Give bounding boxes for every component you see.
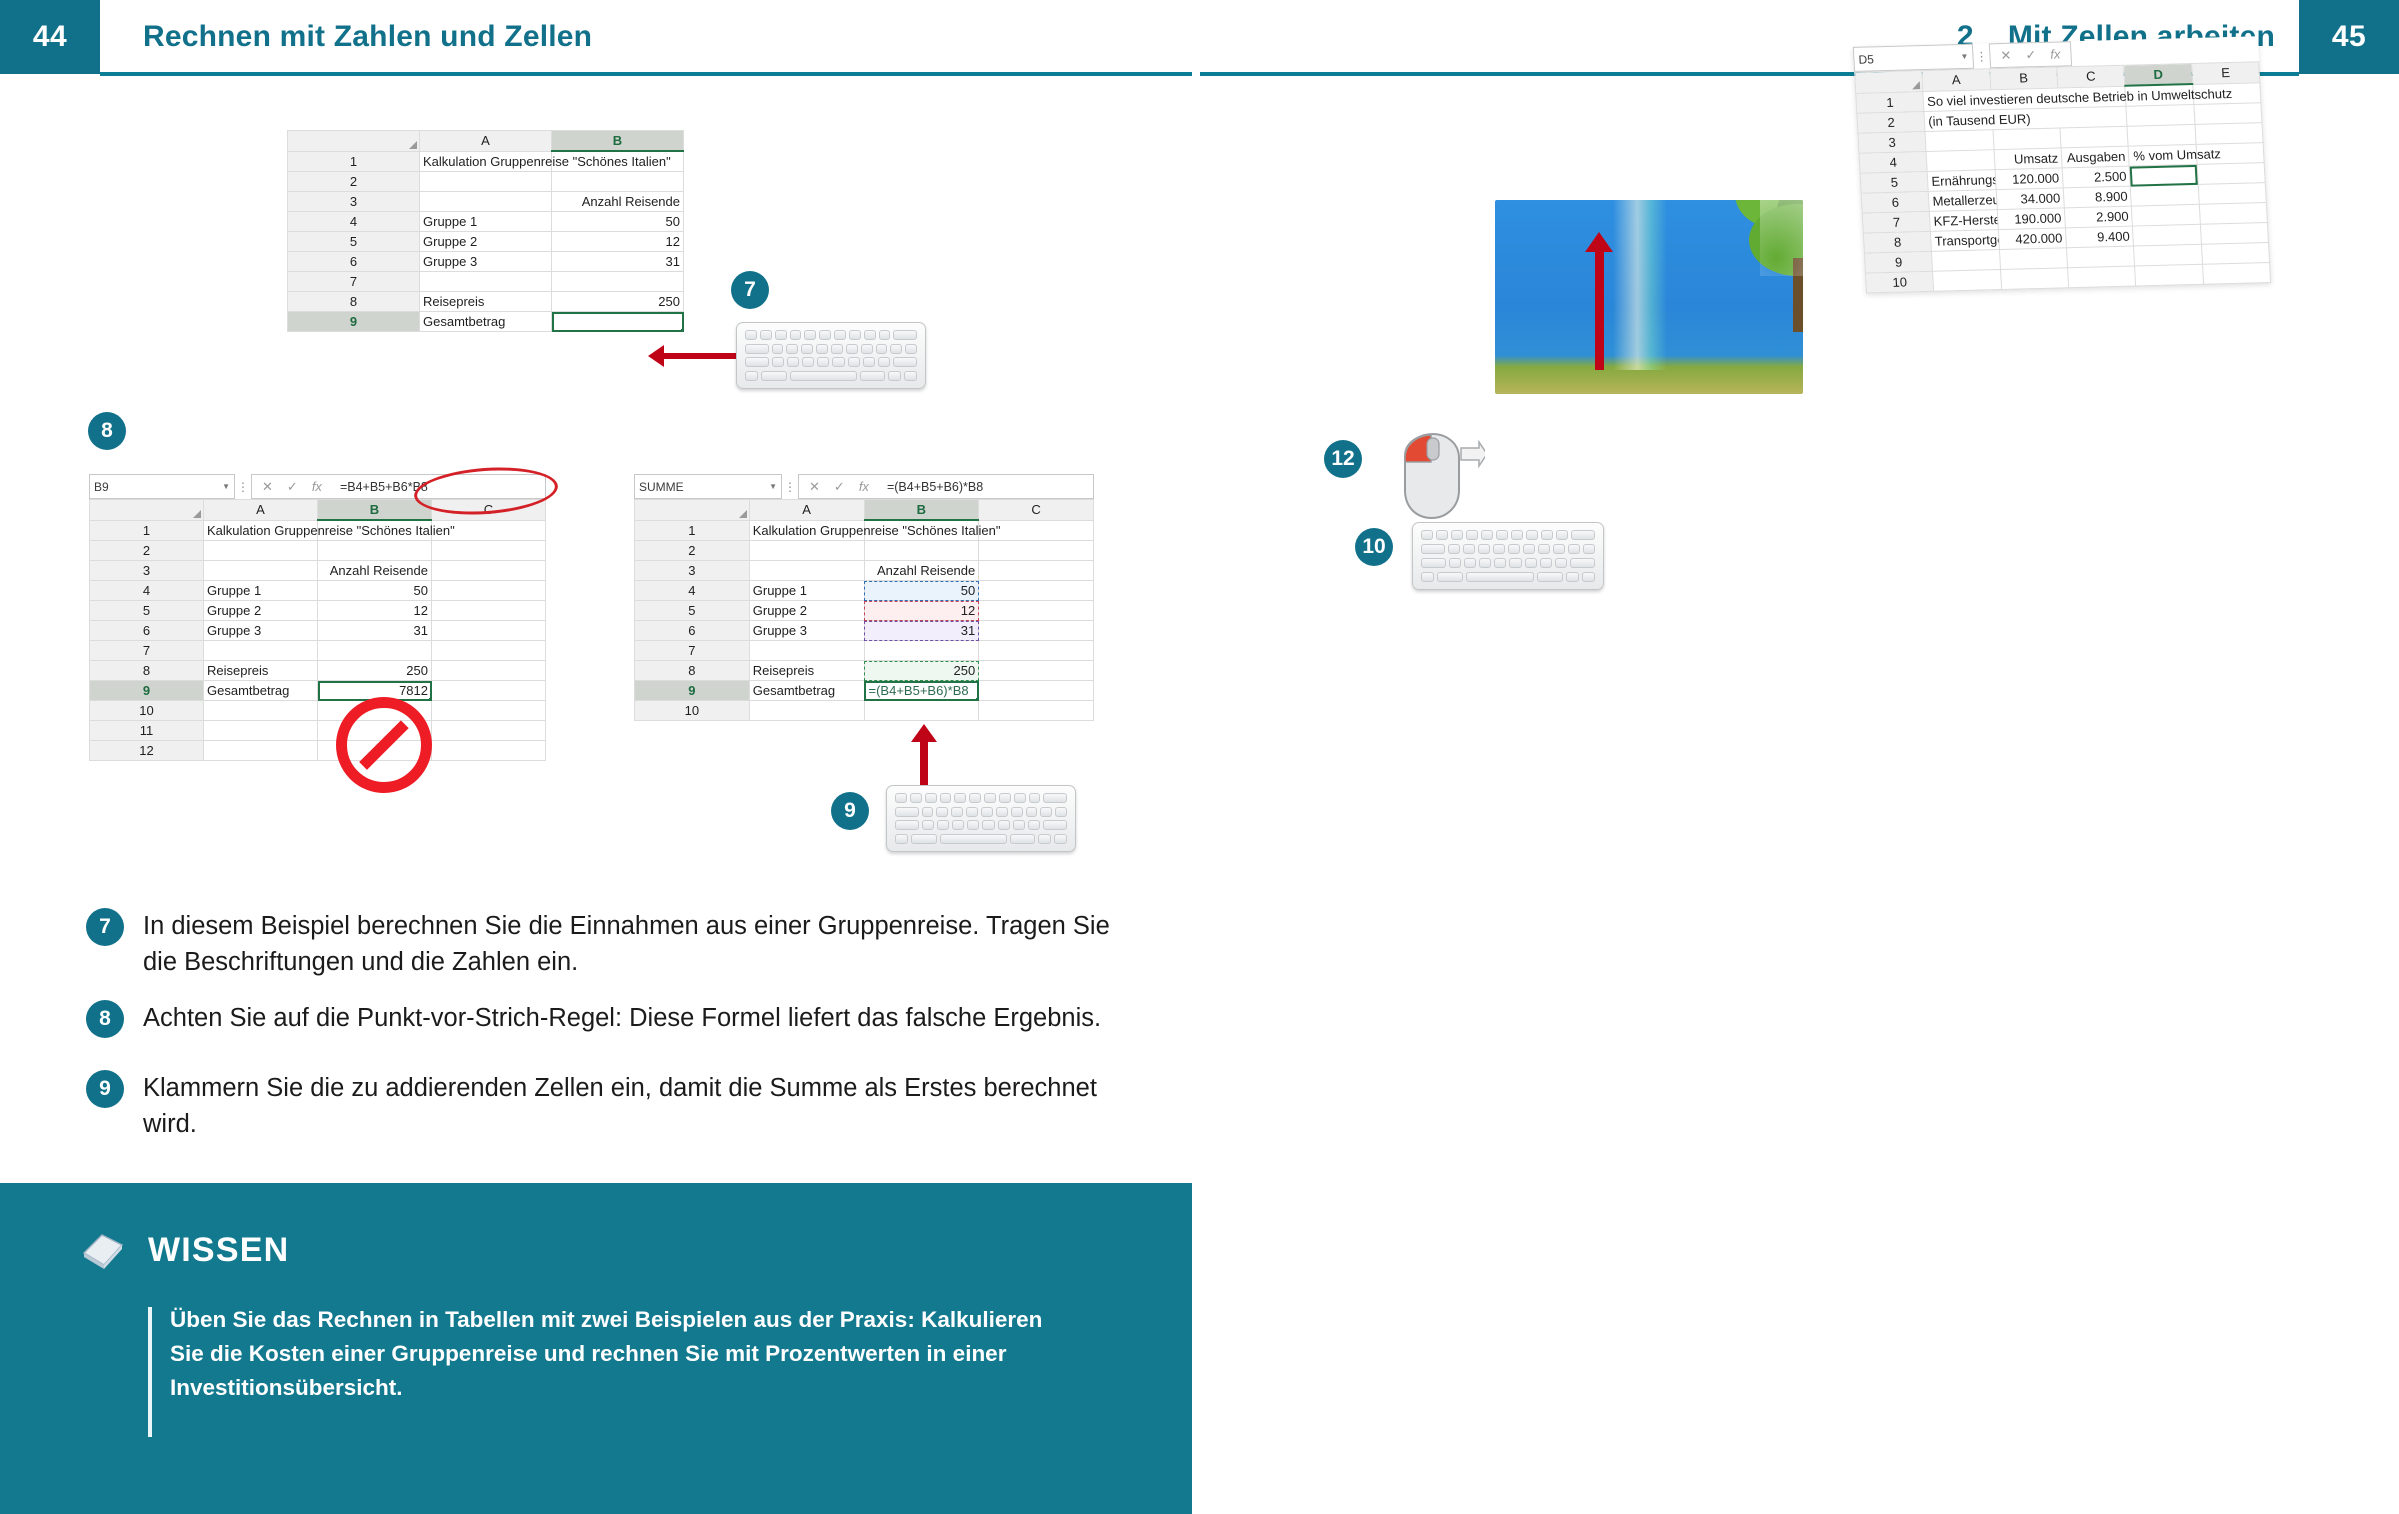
cell-c3[interactable] <box>432 561 546 581</box>
cell-a2[interactable] <box>420 172 552 192</box>
row-header-12[interactable]: 12 <box>90 741 204 761</box>
row-header-1[interactable]: 1 <box>288 151 420 172</box>
row-header-7[interactable]: 7 <box>288 272 420 292</box>
cell-a11[interactable] <box>204 721 318 741</box>
wissen-text: Üben Sie das Rechnen in Tabellen mit zwe… <box>170 1303 1070 1406</box>
column-header-b[interactable]: B <box>864 500 979 521</box>
row-header-8[interactable]: 8 <box>1863 231 1931 253</box>
cell-a8[interactable]: Reisepreis <box>420 292 552 312</box>
keyboard-icon-step9 <box>886 785 1076 852</box>
cell-c10[interactable] <box>2068 266 2136 288</box>
table-row[interactable]: 6Gruppe 331 <box>90 621 546 641</box>
cell-a4[interactable] <box>1926 150 1994 172</box>
cell-e2[interactable] <box>2194 103 2262 125</box>
cell-a7[interactable] <box>749 641 864 661</box>
cell-c8[interactable] <box>432 661 546 681</box>
left-page-number: 44 <box>0 0 100 74</box>
cell-b5[interactable]: 120.000 <box>1995 168 2063 190</box>
chevron-down-icon[interactable]: ▼ <box>222 482 230 491</box>
table-row[interactable]: 3Anzahl Reisende <box>90 561 546 581</box>
confirm-icon[interactable]: ✓ <box>834 479 845 495</box>
cell-a12[interactable] <box>204 741 318 761</box>
table-row[interactable]: 8Reisepreis250 <box>90 661 546 681</box>
table-row[interactable]: 2 <box>288 172 684 192</box>
row-header-6[interactable]: 6 <box>635 621 750 641</box>
row-header-7[interactable]: 7 <box>1862 211 1930 233</box>
cell-a4[interactable]: Gruppe 1 <box>420 212 552 232</box>
cell-d3[interactable] <box>2127 124 2195 146</box>
cell-b8[interactable]: 250 <box>864 661 979 681</box>
row-header-8[interactable]: 8 <box>90 661 204 681</box>
cell-c4[interactable]: Ausgaben <box>2061 146 2129 168</box>
callout-badge-7-figure: 7 <box>731 271 769 309</box>
keyboard-icon-step7 <box>736 322 926 389</box>
cell-a3[interactable] <box>1925 130 1993 152</box>
column-header-a[interactable]: A <box>204 500 318 521</box>
cell-b8[interactable]: 250 <box>318 661 432 681</box>
arrowhead-left <box>648 345 664 367</box>
cell-b8[interactable]: 420.000 <box>1998 228 2066 250</box>
confirm-icon[interactable]: ✓ <box>287 479 298 495</box>
row-header-4[interactable]: 4 <box>1859 151 1927 173</box>
wissen-title: WISSEN <box>148 1231 289 1270</box>
cell-b4[interactable]: 50 <box>864 581 979 601</box>
cell-b9[interactable]: =(B4+B5+B6)*B8 <box>864 681 979 701</box>
column-header-a[interactable]: A <box>1922 69 1990 91</box>
cell-d2[interactable] <box>2126 104 2194 126</box>
cell-b6[interactable]: 31 <box>552 252 684 272</box>
cell-b2[interactable] <box>552 172 684 192</box>
table-row[interactable]: 7 <box>635 641 1094 661</box>
cell-b3[interactable]: Anzahl Reisende <box>864 561 979 581</box>
cell-b7[interactable] <box>864 641 979 661</box>
cell-e9[interactable] <box>2201 243 2269 265</box>
cell-a9[interactable] <box>1932 250 2000 272</box>
cell-a7[interactable] <box>420 272 552 292</box>
cell-c4[interactable] <box>979 581 1094 601</box>
confirm-icon[interactable]: ✓ <box>2025 47 2037 63</box>
table-row[interactable]: 10 <box>635 701 1094 721</box>
table-row[interactable]: 5Gruppe 212 <box>635 601 1094 621</box>
callout-badge-12-figure: 12 <box>1324 440 1362 478</box>
table-row[interactable]: 12 <box>90 741 546 761</box>
row-header-8[interactable]: 8 <box>288 292 420 312</box>
row-header-2[interactable]: 2 <box>288 172 420 192</box>
spreadsheet-correct-formula[interactable]: SUMME ▼ ⋮ ✕ ✓ fx =(B4+B5+B6)*B8 ABC1Kalk… <box>634 474 1094 721</box>
select-all-corner[interactable] <box>635 500 750 521</box>
row-header-3[interactable]: 3 <box>1858 132 1926 154</box>
cell-c10[interactable] <box>432 701 546 721</box>
cell-a4[interactable]: Gruppe 1 <box>204 581 318 601</box>
cell-a6[interactable]: Metallerzeugung <box>1929 190 1997 212</box>
column-header-a[interactable]: A <box>749 500 864 521</box>
cell-b6[interactable]: 31 <box>318 621 432 641</box>
cell-a9[interactable]: Gesamtbetrag <box>204 681 318 701</box>
cell-c6[interactable] <box>432 621 546 641</box>
table-row[interactable]: 4Gruppe 150 <box>90 581 546 601</box>
cell-c5[interactable] <box>979 601 1094 621</box>
left-header-title: Rechnen mit Zahlen und Zellen <box>143 0 592 74</box>
row-header-9[interactable]: 9 <box>1864 251 1932 273</box>
cell-a1[interactable]: Kalkulation Gruppenreise "Schönes Italie… <box>420 151 552 172</box>
row-header-3[interactable]: 3 <box>635 561 750 581</box>
cell-e7[interactable] <box>2199 203 2267 225</box>
arrowhead-up-step10 <box>1585 232 1613 252</box>
forbidden-icon <box>336 697 432 793</box>
step-badge-8: 8 <box>86 1000 124 1038</box>
left-page: 44 Rechnen mit Zahlen und Zellen AB1Kalk… <box>0 0 1199 1514</box>
cell-a8[interactable]: Reisepreis <box>749 661 864 681</box>
table-row[interactable]: 3Anzahl Reisende <box>635 561 1094 581</box>
row-header-5[interactable]: 5 <box>90 601 204 621</box>
row-header-11[interactable]: 11 <box>90 721 204 741</box>
callout-badge-10-figure: 10 <box>1355 528 1393 566</box>
table-row[interactable]: 1Kalkulation Gruppenreise "Schönes Itali… <box>288 151 684 172</box>
table-row[interactable]: 5Gruppe 212 <box>288 232 684 252</box>
row-header-5[interactable]: 5 <box>1860 171 1928 193</box>
step-8-text: Achten Sie auf die Punkt-vor-Strich-Rege… <box>143 1000 1101 1038</box>
cell-c11[interactable] <box>432 721 546 741</box>
row-header-2[interactable]: 2 <box>90 541 204 561</box>
arrow-step10 <box>1595 250 1604 370</box>
right-page: 2 Mit Zellen arbeiten 45 <box>1200 0 2399 1514</box>
cell-c5[interactable] <box>432 601 546 621</box>
cell-b2[interactable] <box>864 541 979 561</box>
cell-b4[interactable]: 50 <box>318 581 432 601</box>
column-header-c[interactable]: C <box>2057 65 2125 87</box>
step-badge-9: 9 <box>86 1070 124 1108</box>
cell-a10[interactable] <box>1933 270 2001 292</box>
table-row[interactable]: 8Reisepreis250 <box>635 661 1094 681</box>
table-row[interactable]: 8Reisepreis250 <box>288 292 684 312</box>
step-7-text: In diesem Beispiel berechnen Sie die Ein… <box>143 908 1116 980</box>
row-header-3[interactable]: 3 <box>90 561 204 581</box>
left-header: 44 Rechnen mit Zahlen und Zellen <box>0 0 1199 74</box>
table-row[interactable]: 4Gruppe 150 <box>635 581 1094 601</box>
cell-a10[interactable] <box>204 701 318 721</box>
formula-bar-buttons-fig3[interactable]: ✕ ✓ fx <box>798 474 879 499</box>
cell-a5[interactable]: Gruppe 2 <box>420 232 552 252</box>
column-header-b[interactable]: B <box>552 131 684 152</box>
row-header-5[interactable]: 5 <box>635 601 750 621</box>
cell-a1[interactable]: Kalkulation Gruppenreise "Schönes Italie… <box>204 520 318 541</box>
cell-a2[interactable] <box>749 541 864 561</box>
spreadsheet-gruppenreise-empty[interactable]: AB1Kalkulation Gruppenreise "Schönes Ita… <box>287 130 684 332</box>
column-header-c[interactable]: C <box>979 500 1094 521</box>
cell-d7[interactable] <box>2132 204 2200 226</box>
cell-c9[interactable] <box>979 681 1094 701</box>
select-all-corner[interactable] <box>1855 71 1923 93</box>
row-header-4[interactable]: 4 <box>288 212 420 232</box>
cell-b3[interactable]: Anzahl Reisende <box>552 192 684 212</box>
table-row[interactable]: 11 <box>90 721 546 741</box>
row-header-9[interactable]: 9 <box>288 312 420 332</box>
row-header-2[interactable]: 2 <box>635 541 750 561</box>
row-header-8[interactable]: 8 <box>635 661 750 681</box>
cell-a7[interactable]: KFZ-Hersteller <box>1930 210 1998 232</box>
insert-function-icon[interactable]: fx <box>859 479 869 494</box>
select-all-corner[interactable] <box>288 131 420 152</box>
formula-bar-buttons-fig10[interactable]: ✕ ✓ fx <box>1989 41 2072 68</box>
cell-c6[interactable]: 8.900 <box>2063 186 2131 208</box>
cell-a3[interactable] <box>749 561 864 581</box>
cell-e5[interactable] <box>2197 163 2265 185</box>
row-header-10[interactable]: 10 <box>90 701 204 721</box>
table-row[interactable]: 1Kalkulation Gruppenreise "Schönes Itali… <box>635 520 1094 541</box>
cell-a2[interactable] <box>204 541 318 561</box>
table-row[interactable]: 4Gruppe 150 <box>288 212 684 232</box>
cell-c9[interactable] <box>432 681 546 701</box>
step-7: 7 In diesem Beispiel berechnen Sie die E… <box>86 908 1116 980</box>
table-row[interactable]: 6Gruppe 331 <box>635 621 1094 641</box>
cell-b6[interactable]: 31 <box>864 621 979 641</box>
cell-a6[interactable]: Gruppe 3 <box>204 621 318 641</box>
table-row[interactable]: 6Gruppe 331 <box>288 252 684 272</box>
cell-d8[interactable] <box>2133 224 2201 246</box>
cell-e3[interactable] <box>2195 123 2263 145</box>
cell-c7[interactable] <box>979 641 1094 661</box>
row-header-7[interactable]: 7 <box>90 641 204 661</box>
row-header-5[interactable]: 5 <box>288 232 420 252</box>
book-spread: 44 Rechnen mit Zahlen und Zellen AB1Kalk… <box>0 0 2399 1514</box>
step-8: 8 Achten Sie auf die Punkt-vor-Strich-Re… <box>86 1000 1141 1038</box>
row-header-6[interactable]: 6 <box>1861 191 1929 213</box>
table-row[interactable]: 3Anzahl Reisende <box>288 192 684 212</box>
cell-c3[interactable] <box>2060 126 2128 148</box>
row-header-4[interactable]: 4 <box>635 581 750 601</box>
cell-a6[interactable]: Gruppe 3 <box>749 621 864 641</box>
cell-b7[interactable] <box>552 272 684 292</box>
cell-b9[interactable] <box>552 312 684 332</box>
book-icon <box>80 1231 126 1271</box>
column-header-d[interactable]: D <box>2124 64 2192 86</box>
cell-b5[interactable]: 12 <box>864 601 979 621</box>
table-row[interactable]: 9Gesamtbetrag7812 <box>90 681 546 701</box>
cell-b9[interactable] <box>1999 248 2067 270</box>
row-header-7[interactable]: 7 <box>635 641 750 661</box>
cancel-icon[interactable]: ✕ <box>2000 47 2012 63</box>
row-header-1[interactable]: 1 <box>635 520 750 541</box>
row-header-3[interactable]: 3 <box>288 192 420 212</box>
cell-b6[interactable]: 34.000 <box>1996 188 2064 210</box>
cell-c2[interactable] <box>432 541 546 561</box>
row-header-2[interactable]: 2 <box>1857 112 1925 134</box>
cell-a5[interactable]: Gruppe 2 <box>749 601 864 621</box>
cell-b4[interactable]: Umsatz <box>1994 148 2062 170</box>
cell-a8[interactable]: Transportgewerbe <box>1931 230 1999 252</box>
spreadsheet-wrong-formula[interactable]: B9 ▼ ⋮ ✕ ✓ fx =B4+B5+B6*B8 ABC1Kalkulati… <box>89 474 546 761</box>
cell-d4[interactable]: % vom Umsatz <box>2128 144 2196 166</box>
table-row[interactable]: 7 <box>90 641 546 661</box>
cell-c9[interactable] <box>2066 246 2134 268</box>
cell-a5[interactable]: Gruppe 2 <box>204 601 318 621</box>
column-header-e[interactable]: E <box>2191 62 2259 84</box>
table-row[interactable]: 7 <box>288 272 684 292</box>
row-header-1[interactable]: 1 <box>1856 91 1924 113</box>
cell-b3[interactable]: Anzahl Reisende <box>318 561 432 581</box>
cell-a6[interactable]: Gruppe 3 <box>420 252 552 272</box>
callout-badge-9-figure: 9 <box>831 792 869 830</box>
cancel-icon[interactable]: ✕ <box>809 479 820 495</box>
callout-badge-8-figure: 8 <box>88 412 126 450</box>
column-header-b[interactable]: B <box>1989 67 2057 89</box>
table-row[interactable]: 10 <box>90 701 546 721</box>
cell-c2[interactable] <box>979 541 1094 561</box>
cell-b5[interactable]: 12 <box>552 232 684 252</box>
row-header-6[interactable]: 6 <box>288 252 420 272</box>
column-header-a[interactable]: A <box>420 131 552 152</box>
arrowhead-up <box>911 724 937 742</box>
cell-c7[interactable] <box>432 641 546 661</box>
cell-e8[interactable] <box>2200 223 2268 245</box>
row-header-10[interactable]: 10 <box>1866 271 1934 293</box>
name-box-fig2[interactable]: B9 ▼ <box>89 474 235 499</box>
cell-b3[interactable] <box>1993 128 2061 150</box>
row-header-4[interactable]: 4 <box>90 581 204 601</box>
table-row[interactable]: 9Gesamtbetrag <box>288 312 684 332</box>
name-box-fig10[interactable]: D5 ▼ <box>1853 44 1974 72</box>
cell-b7[interactable] <box>318 641 432 661</box>
chevron-down-icon[interactable]: ▼ <box>1960 52 1968 61</box>
row-header-10[interactable]: 10 <box>635 701 750 721</box>
cell-c3[interactable] <box>979 561 1094 581</box>
chevron-down-icon[interactable]: ▼ <box>769 482 777 491</box>
insert-function-icon[interactable]: fx <box>2050 46 2061 61</box>
cell-c10[interactable] <box>979 701 1094 721</box>
cell-b10[interactable] <box>864 701 979 721</box>
formula-bar-fig3[interactable]: SUMME ▼ ⋮ ✕ ✓ fx =(B4+B5+B6)*B8 <box>634 474 1094 499</box>
more-options-icon[interactable]: ⋮ <box>235 474 251 499</box>
cell-b5[interactable]: 12 <box>318 601 432 621</box>
cell-c5[interactable]: 2.500 <box>2062 166 2130 188</box>
formula-bar-buttons-fig2[interactable]: ✕ ✓ fx <box>251 474 332 499</box>
table-row[interactable]: 1Kalkulation Gruppenreise "Schönes Itali… <box>90 520 546 541</box>
more-options-icon[interactable]: ⋮ <box>782 474 798 499</box>
cell-e6[interactable] <box>2198 183 2266 205</box>
cell-d5[interactable] <box>2129 164 2197 186</box>
cell-a1[interactable]: Kalkulation Gruppenreise "Schönes Italie… <box>749 520 864 541</box>
row-header-6[interactable]: 6 <box>90 621 204 641</box>
cell-e10[interactable] <box>2202 262 2270 284</box>
step-badge-7: 7 <box>86 908 124 946</box>
cell-d9[interactable] <box>2134 244 2202 266</box>
table-row[interactable]: 2 <box>90 541 546 561</box>
cell-a7[interactable] <box>204 641 318 661</box>
cell-d10[interactable] <box>2135 264 2203 286</box>
cell-a5[interactable]: Ernährungsgewerbe <box>1927 170 1995 192</box>
row-header-9[interactable]: 9 <box>635 681 750 701</box>
table-row[interactable]: 9Gesamtbetrag=(B4+B5+B6)*B8 <box>635 681 1094 701</box>
cell-b2[interactable] <box>318 541 432 561</box>
keyboard-icon-step10 <box>1412 522 1604 590</box>
cell-a9[interactable]: Gesamtbetrag <box>749 681 864 701</box>
cell-b7[interactable]: 190.000 <box>1997 208 2065 230</box>
column-header-b[interactable]: B <box>318 500 432 521</box>
select-all-corner[interactable] <box>90 500 204 521</box>
insert-function-icon[interactable]: fx <box>312 479 322 494</box>
wissen-box: WISSEN Üben Sie das Rechnen in Tabellen … <box>0 1183 1193 1514</box>
cell-d6[interactable] <box>2131 184 2199 206</box>
cell-a3[interactable] <box>420 192 552 212</box>
row-header-9[interactable]: 9 <box>90 681 204 701</box>
name-box-fig3[interactable]: SUMME ▼ <box>634 474 782 499</box>
mouse-icon <box>1375 428 1485 523</box>
cell-b8[interactable]: 250 <box>552 292 684 312</box>
cell-c12[interactable] <box>432 741 546 761</box>
cell-c8[interactable] <box>979 661 1094 681</box>
step-9: 9 Klammern Sie die zu addierenden Zellen… <box>86 1070 1116 1142</box>
cell-c4[interactable] <box>432 581 546 601</box>
cell-b10[interactable] <box>2000 268 2068 290</box>
table-row[interactable]: 2 <box>635 541 1094 561</box>
step-9-text: Klammern Sie die zu addierenden Zellen e… <box>143 1070 1116 1142</box>
cell-b4[interactable]: 50 <box>552 212 684 232</box>
cell-c8[interactable]: 9.400 <box>2065 226 2133 248</box>
table-row[interactable]: 5Gruppe 212 <box>90 601 546 621</box>
cell-a9[interactable]: Gesamtbetrag <box>420 312 552 332</box>
wissen-accent-line <box>148 1307 152 1437</box>
cell-a10[interactable] <box>749 701 864 721</box>
right-page-number: 45 <box>2299 0 2399 74</box>
cell-c7[interactable]: 2.900 <box>2064 206 2132 228</box>
cell-c6[interactable] <box>979 621 1094 641</box>
formula-input-fig3[interactable]: =(B4+B5+B6)*B8 <box>879 474 1094 499</box>
row-header-1[interactable]: 1 <box>90 520 204 541</box>
cell-a4[interactable]: Gruppe 1 <box>749 581 864 601</box>
spreadsheet-umweltschutz-tilted[interactable]: D5 ▼ ⋮ ✕ ✓ fx ABCDE1So viel investieren … <box>1853 36 2271 293</box>
cancel-icon[interactable]: ✕ <box>262 479 273 495</box>
cell-a3[interactable] <box>204 561 318 581</box>
tilted-sheet-wrapper: D5 ▼ ⋮ ✕ ✓ fx ABCDE1So viel investieren … <box>1200 31 1936 339</box>
cell-a8[interactable]: Reisepreis <box>204 661 318 681</box>
more-options-icon[interactable]: ⋮ <box>1973 43 1990 68</box>
